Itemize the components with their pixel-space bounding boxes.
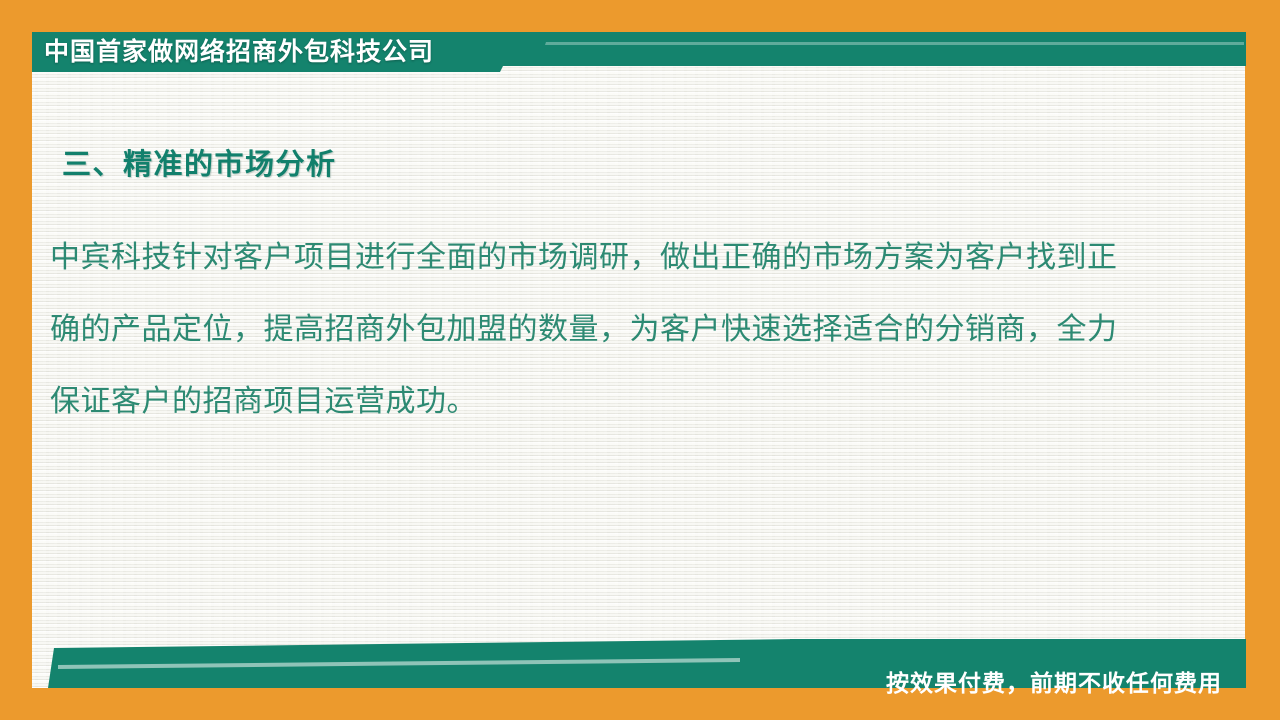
body-paragraph: 中宾科技针对客户项目进行全面的市场调研，做出正确的市场方案为客户找到正 确的产品…: [50, 222, 1200, 438]
presentation-slide: 中国首家做网络招商外包科技公司 三、精准的市场分析 中宾科技针对客户项目进行全面…: [0, 0, 1280, 720]
slide-body: 三、精准的市场分析 中宾科技针对客户项目进行全面的市场调研，做出正确的市场方案为…: [32, 32, 1245, 642]
section-heading: 三、精准的市场分析: [62, 141, 337, 183]
footer-tagline: 按效果付费，前期不收任何费用: [886, 664, 1222, 698]
paragraph-line: 保证客户的招商项目运营成功。: [50, 366, 1200, 438]
paragraph-line: 中宾科技针对客户项目进行全面的市场调研，做出正确的市场方案为客户找到正: [50, 222, 1200, 294]
paragraph-line: 确的产品定位，提高招商外包加盟的数量，为客户快速选择适合的分销商，全力: [50, 294, 1200, 366]
